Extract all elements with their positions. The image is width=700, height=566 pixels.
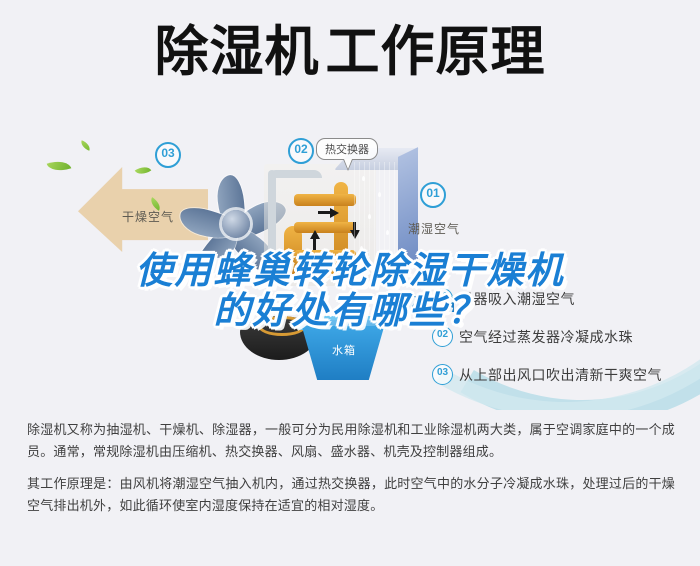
step-label: 空气经过蒸发器冷凝成水珠	[459, 327, 633, 347]
list-item: 03 从上部出风口吹出清新干爽空气	[432, 364, 700, 385]
article-body: 除湿机又称为抽湿机、干燥机、除湿器，一般可分为民用除湿机和工业除湿机两大类，属于…	[27, 420, 675, 528]
heat-exchanger-callout: 热交换器	[316, 138, 378, 160]
dehumidifier-diagram: 干燥空气	[0, 120, 700, 410]
step-number: 03	[432, 364, 453, 385]
step-number: 01	[432, 288, 453, 309]
list-item: 02 空气经过蒸发器冷凝成水珠	[432, 326, 700, 347]
step-number: 02	[432, 326, 453, 347]
paragraph-1: 除湿机又称为抽湿机、干燥机、除湿器，一般可分为民用除湿机和工业除湿机两大类，属于…	[27, 420, 675, 464]
heat-exchanger-icon	[354, 156, 418, 280]
leaf-icon	[79, 140, 92, 151]
paragraph-2: 其工作原理是：由风机将潮湿空气抽入机内，通过热交换器，此时空气中的水分子冷凝成水…	[27, 474, 675, 518]
step-list: 01 机器吸入潮湿空气 02 空气经过蒸发器冷凝成水珠 03 从上部出风口吹出清…	[432, 288, 700, 402]
page-title: 除湿机工作原理	[0, 22, 700, 82]
infographic-page: 除湿机工作原理 干燥空气	[0, 0, 700, 566]
title-part-1: 除湿机	[155, 20, 320, 83]
humid-air-label: 潮湿空气	[408, 220, 460, 237]
step-label: 从上部出风口吹出清新干爽空气	[459, 365, 662, 385]
leaf-icon	[135, 163, 152, 178]
marker-01: 01	[420, 182, 446, 208]
water-tank-label: 水箱	[332, 342, 356, 358]
step-label: 机器吸入潮湿空气	[459, 289, 575, 309]
title-part-2: 工作原理	[326, 20, 546, 83]
marker-02: 02	[288, 138, 314, 164]
marker-03: 03	[155, 142, 181, 168]
list-item: 01 机器吸入潮湿空气	[432, 288, 700, 309]
leaf-icon	[47, 157, 72, 175]
dry-air-label: 干燥空气	[122, 208, 174, 225]
